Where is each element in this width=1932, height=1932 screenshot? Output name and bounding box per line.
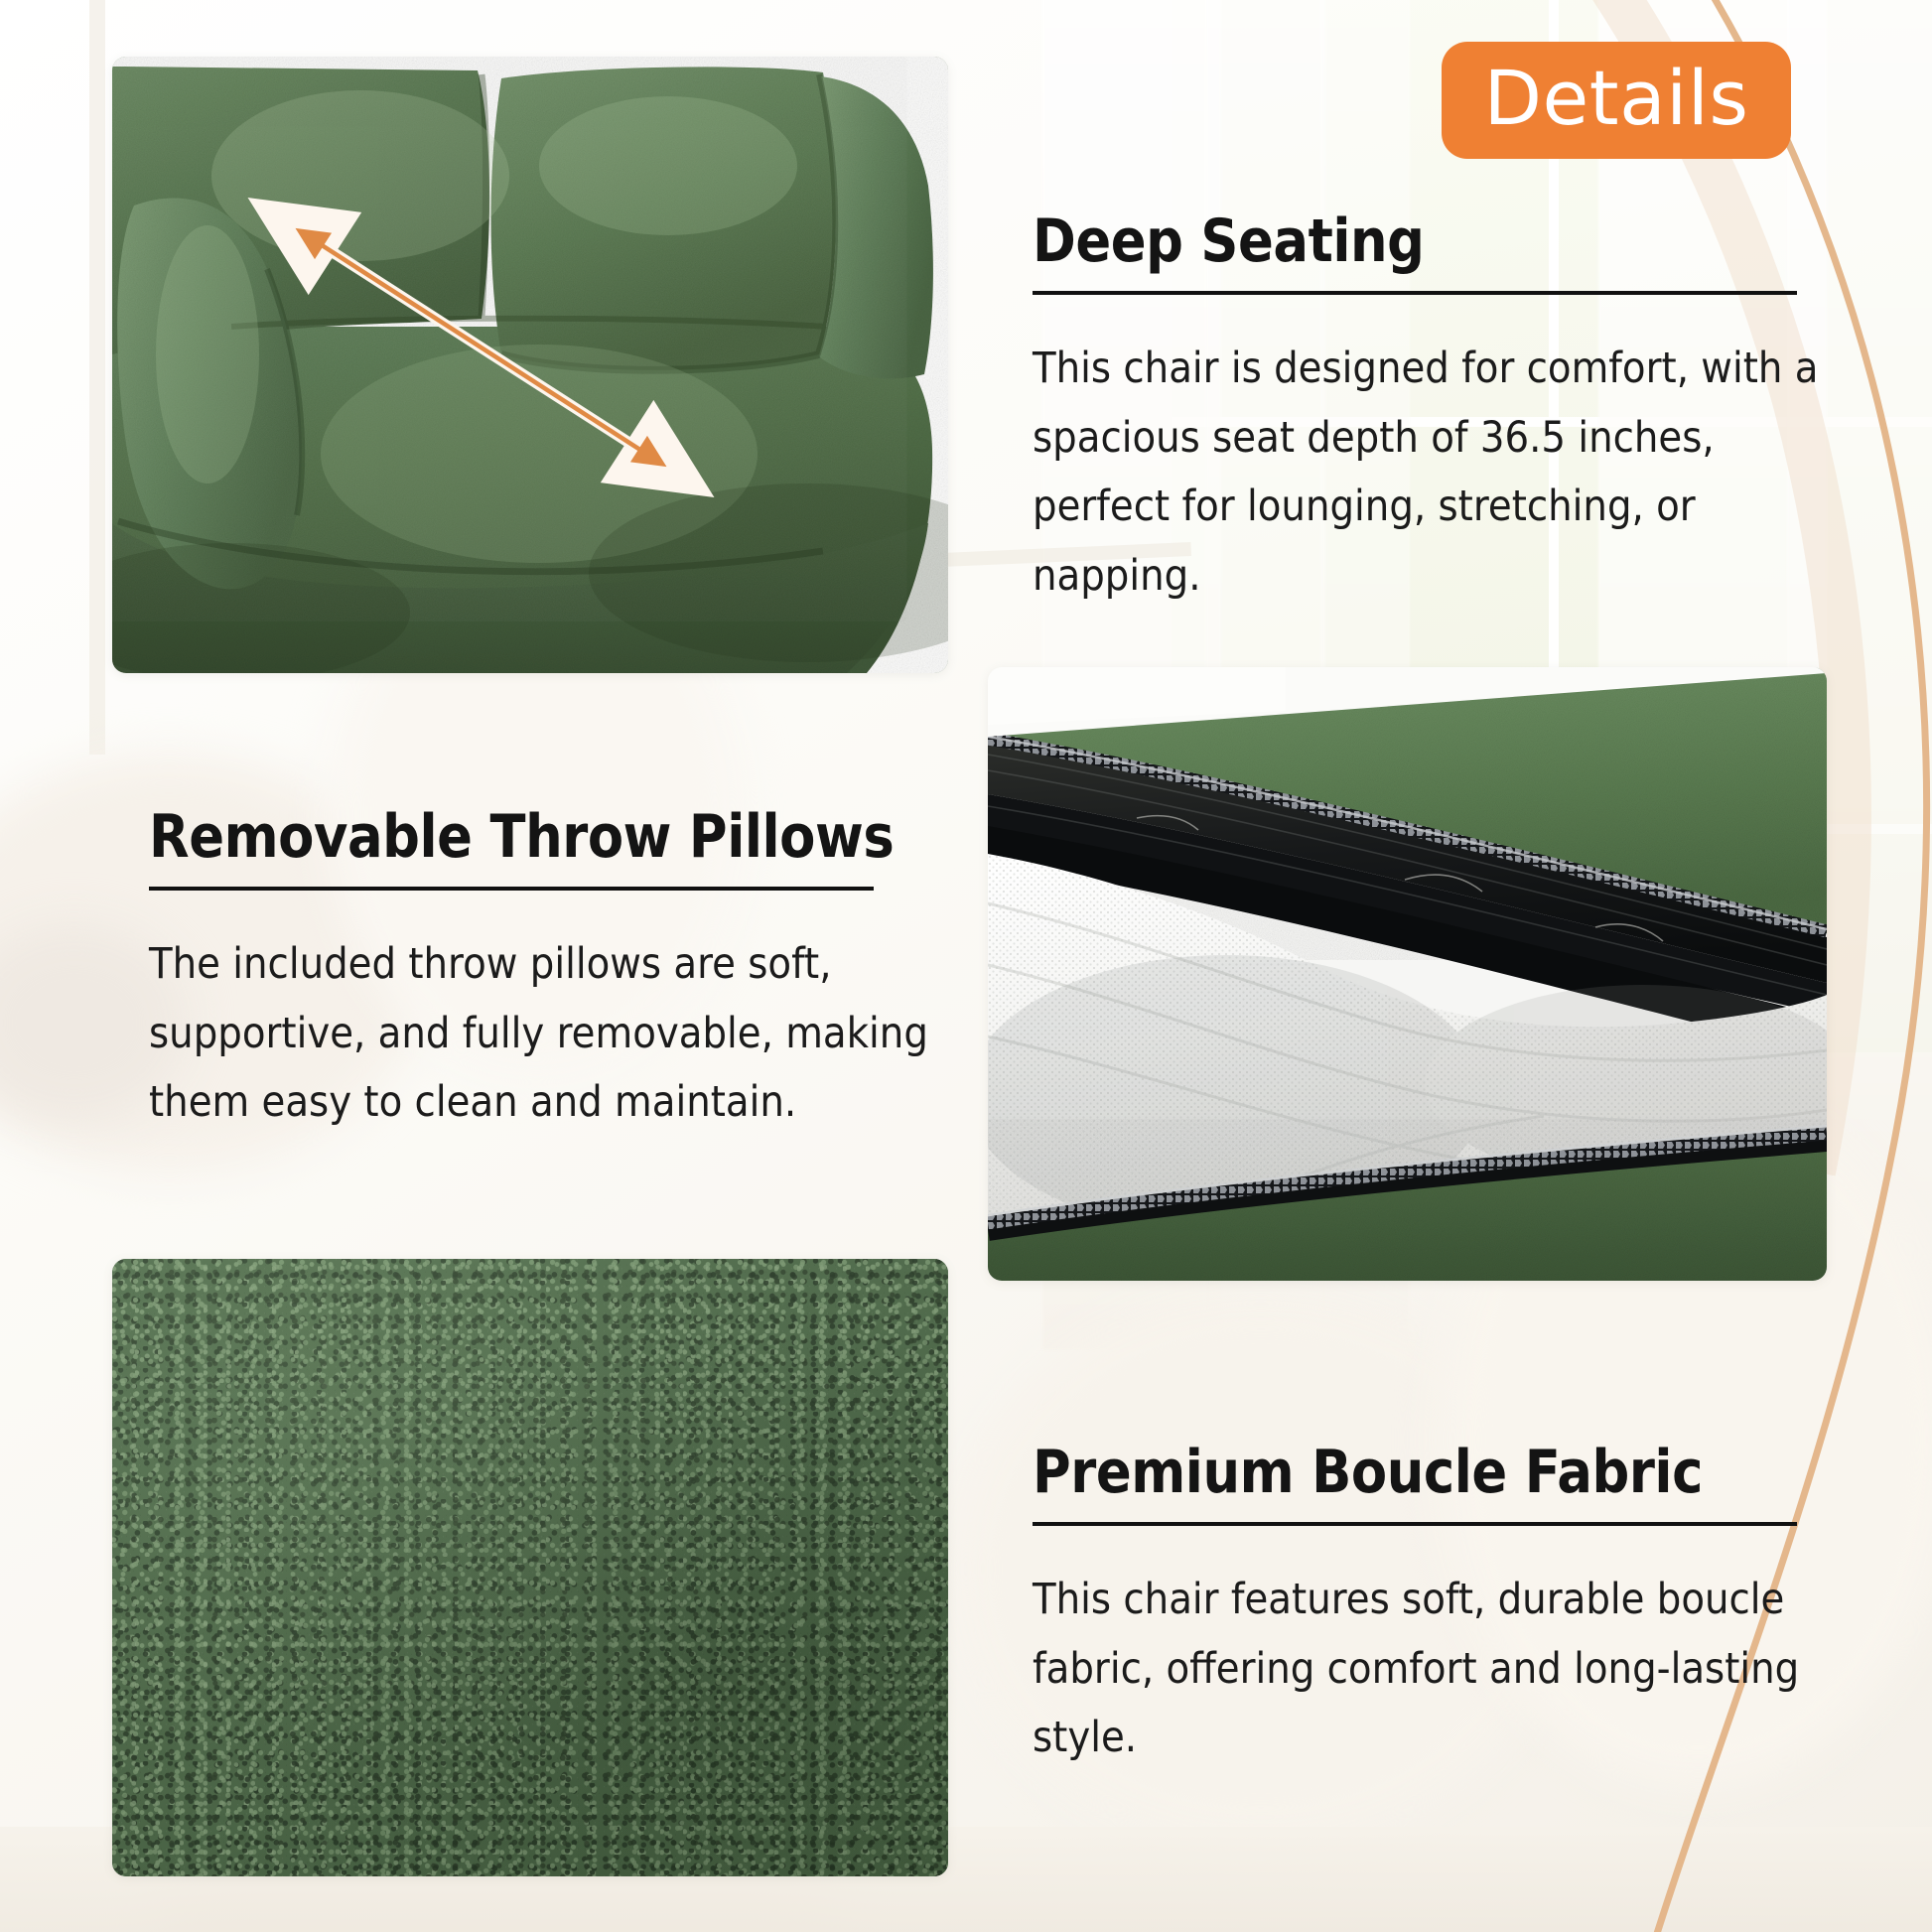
feature-body: This chair features soft, durable boucle… <box>1033 1566 1837 1773</box>
feature-deep-seating: Deep Seating This chair is designed for … <box>1033 210 1837 612</box>
boucle-shading <box>112 1259 948 1876</box>
heading-rule <box>149 887 874 891</box>
details-badge: Details <box>1442 42 1791 159</box>
feature-body: The included throw pillows are soft, sup… <box>149 930 935 1138</box>
feature-heading: Premium Boucle Fabric <box>1033 1442 1740 1504</box>
chair-photo-panel <box>112 57 948 673</box>
feature-heading: Deep Seating <box>1033 210 1740 273</box>
fabric-swatch-panel <box>112 1259 948 1876</box>
heading-rule <box>1033 1522 1797 1526</box>
details-badge-label: Details <box>1484 61 1749 136</box>
feature-heading: Removable Throw Pillows <box>149 806 848 869</box>
heading-rule <box>1033 291 1797 295</box>
fabric-swatch-artwork <box>112 1259 948 1876</box>
background-wall-panel <box>89 0 105 755</box>
chair-photo-artwork <box>112 57 948 673</box>
zipper-photo-panel <box>988 667 1827 1281</box>
feature-body: This chair is designed for comfort, with… <box>1033 335 1837 612</box>
feature-throw-pillows: Removable Throw Pillows The included thr… <box>149 806 943 1138</box>
zipper-photo-artwork <box>988 667 1827 1281</box>
feature-boucle-fabric: Premium Boucle Fabric This chair feature… <box>1033 1442 1837 1773</box>
